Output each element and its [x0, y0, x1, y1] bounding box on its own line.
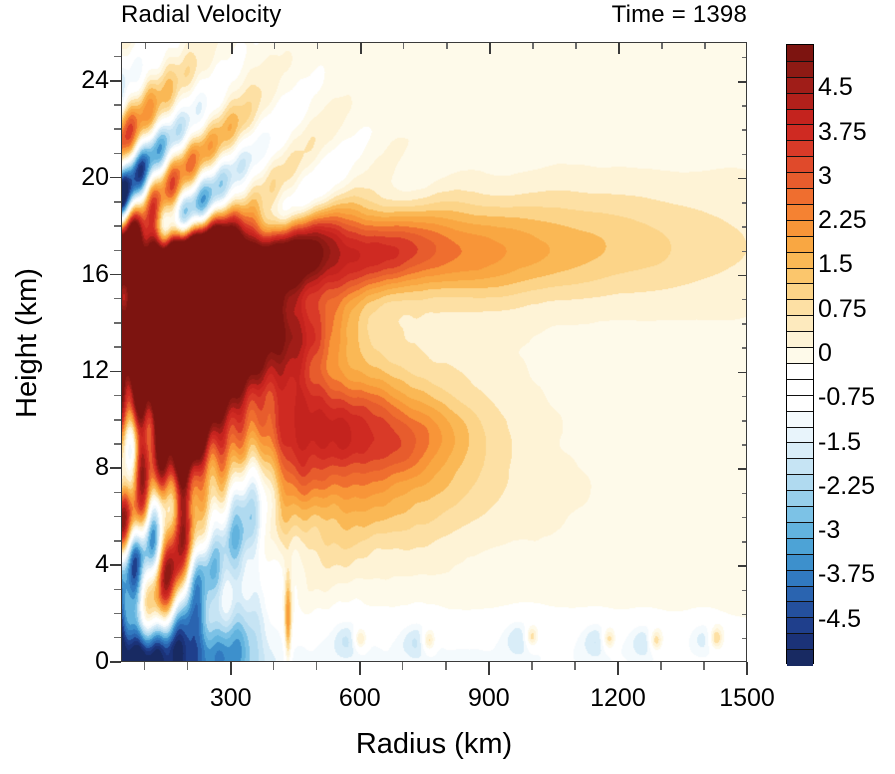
- y-tick-major: [110, 274, 121, 276]
- colorbar-band: [787, 315, 813, 331]
- x-tick-label: 600: [300, 686, 420, 711]
- x-tick-minor: [574, 662, 575, 670]
- colorbar-band: [787, 506, 813, 522]
- colorbar-band: [787, 617, 813, 633]
- x-tick-major-top: [360, 43, 362, 54]
- y-tick-minor-right: [742, 396, 747, 397]
- y-tick-major-right: [738, 178, 747, 180]
- time-annotation: Time = 1398: [447, 0, 747, 30]
- y-tick-major-right: [738, 81, 747, 83]
- y-axis-tick-labels: 04812162024: [33, 42, 109, 662]
- y-tick-minor-right: [742, 323, 747, 324]
- x-tick-label: 900: [429, 686, 549, 711]
- x-tick-minor: [531, 662, 532, 670]
- colorbar-band: [787, 299, 813, 315]
- y-tick-minor: [114, 225, 121, 226]
- x-tick-minor-top: [661, 43, 662, 49]
- colorbar-tick-label: -1.5: [818, 430, 892, 455]
- y-tick-minor-right: [742, 517, 747, 518]
- y-tick-minor-right: [742, 251, 747, 252]
- y-tick-major-right: [738, 275, 747, 277]
- y-tick-minor: [114, 395, 121, 396]
- colorbar-band: [787, 252, 813, 268]
- colorbar-band: [787, 586, 813, 602]
- colorbar-band: [787, 379, 813, 395]
- y-tick-minor: [114, 346, 121, 347]
- y-tick-minor: [114, 128, 121, 129]
- colorbar-band: [787, 220, 813, 236]
- x-tick-minor-top: [575, 43, 576, 49]
- colorbar-tick-label: 2.25: [818, 208, 892, 233]
- colorbar-band: [787, 124, 813, 140]
- y-tick-minor-right: [742, 347, 747, 348]
- figure: Radial Velocity Time = 1398 04812162024 …: [0, 0, 895, 774]
- y-tick-major-right: [738, 468, 747, 470]
- colorbar-tick-label: -4.5: [818, 607, 892, 632]
- colorbar-tick-label: -3.75: [818, 562, 892, 587]
- colorbar-band: [787, 633, 813, 649]
- x-tick-minor: [316, 662, 317, 670]
- y-tick-minor: [114, 104, 121, 105]
- colorbar-tick-label: -0.75: [818, 385, 892, 410]
- colorbar-tick-label: -2.25: [818, 474, 892, 499]
- y-tick-minor-right: [742, 129, 747, 130]
- y-tick-minor-right: [742, 154, 747, 155]
- y-tick-minor: [114, 589, 121, 590]
- colorbar-tick-labels: 4.53.7532.251.50.750-0.75-1.5-2.25-3-3.7…: [818, 44, 892, 664]
- colorbar-band: [787, 109, 813, 125]
- y-tick-label: 4: [45, 552, 109, 577]
- x-tick-major: [617, 662, 619, 675]
- colorbar-band: [787, 331, 813, 347]
- x-tick-minor: [660, 662, 661, 670]
- colorbar-band: [787, 93, 813, 109]
- colorbar-tick-label: 4.5: [818, 75, 892, 100]
- y-tick-minor-right: [742, 202, 747, 203]
- y-tick-minor-right: [742, 493, 747, 494]
- y-tick-major: [110, 661, 121, 663]
- colorbar-tick-label: 0.75: [818, 297, 892, 322]
- colorbar-band: [787, 474, 813, 490]
- x-tick-minor-top: [145, 43, 146, 49]
- x-tick-minor-top: [446, 43, 447, 49]
- x-tick-major-top: [618, 43, 620, 54]
- colorbar-band: [787, 140, 813, 156]
- y-tick-minor-right: [742, 226, 747, 227]
- y-tick-major: [110, 564, 121, 566]
- colorbar-band: [787, 427, 813, 443]
- colorbar-band: [787, 204, 813, 220]
- x-tick-minor: [445, 662, 446, 670]
- y-tick-minor: [114, 613, 121, 614]
- plot-area: [121, 42, 747, 662]
- colorbar-tick-label: 0: [818, 341, 892, 366]
- colorbar-band: [787, 570, 813, 586]
- colorbar-band: [787, 411, 813, 427]
- colorbar-band: [787, 268, 813, 284]
- colorbar-band: [787, 395, 813, 411]
- y-tick-major: [110, 177, 121, 179]
- x-tick-major-top: [231, 43, 233, 54]
- x-tick-major: [359, 662, 361, 675]
- colorbar-band: [787, 522, 813, 538]
- radial-velocity-heatmap: [122, 43, 746, 661]
- y-tick-minor-right: [742, 420, 747, 421]
- y-tick-label: 24: [45, 68, 109, 93]
- y-tick-minor-right: [742, 638, 747, 639]
- colorbar-band: [787, 554, 813, 570]
- y-tick-label: 16: [45, 262, 109, 287]
- x-tick-minor-top: [317, 43, 318, 49]
- y-tick-minor-right: [742, 299, 747, 300]
- y-axis-title: Height (km): [10, 193, 44, 493]
- y-tick-label: 0: [45, 649, 109, 674]
- colorbar-tick-label: 3: [818, 164, 892, 189]
- plot-title: Radial Velocity: [121, 0, 421, 30]
- x-tick-major: [230, 662, 232, 675]
- y-tick-major-right: [738, 565, 747, 567]
- x-tick-minor-top: [274, 43, 275, 49]
- heatmap-field: [122, 43, 746, 661]
- colorbar-band: [787, 490, 813, 506]
- y-tick-major-right: [738, 372, 747, 374]
- x-tick-minor-top: [704, 43, 705, 49]
- x-tick-label: 300: [171, 686, 291, 711]
- colorbar-band: [787, 156, 813, 172]
- y-tick-minor: [114, 153, 121, 154]
- x-tick-minor: [703, 662, 704, 670]
- colorbar-band: [787, 283, 813, 299]
- colorbar-band: [787, 442, 813, 458]
- x-tick-minor-top: [188, 43, 189, 49]
- x-tick-minor-top: [532, 43, 533, 49]
- y-tick-minor-right: [742, 614, 747, 615]
- y-tick-minor-right: [742, 444, 747, 445]
- colorbar-band: [787, 458, 813, 474]
- y-tick-major: [110, 80, 121, 82]
- y-tick-label: 20: [45, 165, 109, 190]
- colorbar-tick-label: -3: [818, 518, 892, 543]
- y-tick-minor-right: [742, 541, 747, 542]
- colorbar-tick-label: 3.75: [818, 120, 892, 145]
- x-tick-label: 1200: [558, 686, 678, 711]
- y-tick-minor-right: [742, 590, 747, 591]
- colorbar-band: [787, 538, 813, 554]
- x-tick-minor-top: [403, 43, 404, 49]
- colorbar-band: [787, 172, 813, 188]
- colorbar-band: [787, 363, 813, 379]
- x-axis-title: Radius (km): [121, 727, 747, 761]
- y-tick-label: 12: [45, 358, 109, 383]
- colorbar-band: [787, 601, 813, 617]
- y-tick-minor-right: [742, 105, 747, 106]
- colorbar-band: [787, 347, 813, 363]
- x-tick-major: [488, 662, 490, 675]
- x-tick-minor: [187, 662, 188, 670]
- y-tick-major: [110, 467, 121, 469]
- y-tick-minor: [114, 492, 121, 493]
- y-tick-minor: [114, 540, 121, 541]
- colorbar-band: [787, 45, 813, 61]
- colorbar: [786, 44, 814, 664]
- y-tick-major: [110, 371, 121, 373]
- colorbar-band: [787, 77, 813, 93]
- y-tick-minor: [114, 419, 121, 420]
- colorbar-band: [787, 188, 813, 204]
- x-tick-minor: [402, 662, 403, 670]
- colorbar-band: [787, 61, 813, 77]
- y-tick-label: 8: [45, 455, 109, 480]
- y-tick-minor: [114, 201, 121, 202]
- y-tick-minor: [114, 56, 121, 57]
- y-tick-minor: [114, 298, 121, 299]
- x-tick-label: 1500: [687, 686, 807, 711]
- y-tick-minor: [114, 250, 121, 251]
- y-tick-minor-right: [742, 57, 747, 58]
- y-tick-minor: [114, 516, 121, 517]
- y-tick-minor: [114, 322, 121, 323]
- colorbar-band: [787, 649, 813, 665]
- y-tick-minor: [114, 443, 121, 444]
- colorbar-tick-label: 1.5: [818, 252, 892, 277]
- y-tick-minor: [114, 637, 121, 638]
- colorbar-band: [787, 236, 813, 252]
- x-axis-tick-labels: 30060090012001500: [121, 686, 747, 718]
- x-tick-minor: [144, 662, 145, 670]
- x-tick-minor: [273, 662, 274, 670]
- x-tick-major-top: [489, 43, 491, 54]
- x-tick-major: [746, 662, 748, 675]
